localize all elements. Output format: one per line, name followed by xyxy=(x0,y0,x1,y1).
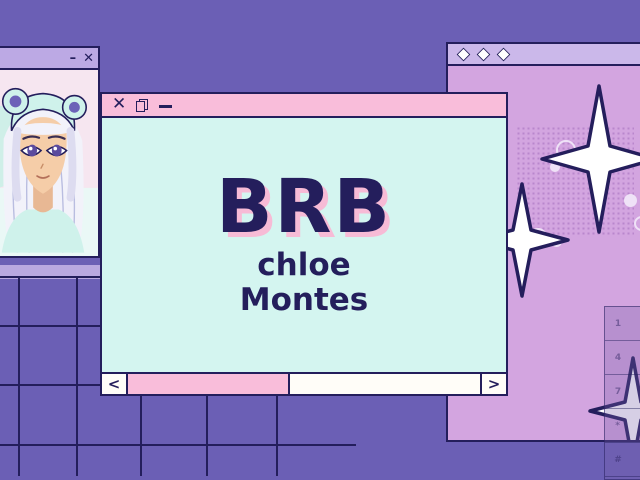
minimize-icon[interactable]: – xyxy=(70,52,77,65)
diamond-icon xyxy=(457,47,471,61)
headline-text: BRB xyxy=(216,172,392,242)
illustration-artwork xyxy=(0,70,98,256)
diamond-icon xyxy=(497,47,511,61)
translucent-keypad-panel: 12 45 78 *0 #= xyxy=(604,306,640,480)
illustration-window[interactable]: – ✕ xyxy=(0,46,100,258)
minimize-icon[interactable] xyxy=(159,105,172,108)
diamond-icon xyxy=(477,47,491,61)
anime-girl-illustration xyxy=(0,70,98,256)
keypad-row: *0 xyxy=(605,409,640,443)
keypad-row: 12 xyxy=(605,307,640,341)
keypad-row: #= xyxy=(605,443,640,477)
restore-icon[interactable] xyxy=(136,99,149,112)
main-window-titlebar[interactable]: ✕ xyxy=(102,94,506,118)
close-icon[interactable]: ✕ xyxy=(112,96,126,113)
horizontal-scrollbar[interactable]: < > xyxy=(102,372,506,394)
scroll-right-button[interactable]: > xyxy=(480,374,506,394)
close-icon[interactable]: ✕ xyxy=(83,52,94,65)
screenshot-canvas: 12 45 78 *0 #= – ✕ xyxy=(0,0,640,480)
keypad-row: 45 xyxy=(605,341,640,375)
sparkle-window-titlebar[interactable] xyxy=(448,44,640,66)
subtitle-line-2: Montes xyxy=(240,283,369,318)
scroll-thumb[interactable] xyxy=(128,374,290,394)
main-window-content: BRB chloe Montes xyxy=(102,118,506,372)
illustration-window-titlebar[interactable]: – ✕ xyxy=(0,48,98,70)
scroll-track[interactable] xyxy=(128,374,480,394)
subtitle-line-1: chloe xyxy=(240,248,369,283)
scroll-left-button[interactable]: < xyxy=(102,374,128,394)
subtitle-text: chloe Montes xyxy=(240,248,369,317)
main-window[interactable]: ✕ BRB chloe Montes < > xyxy=(100,92,508,396)
keypad-row: 78 xyxy=(605,375,640,409)
